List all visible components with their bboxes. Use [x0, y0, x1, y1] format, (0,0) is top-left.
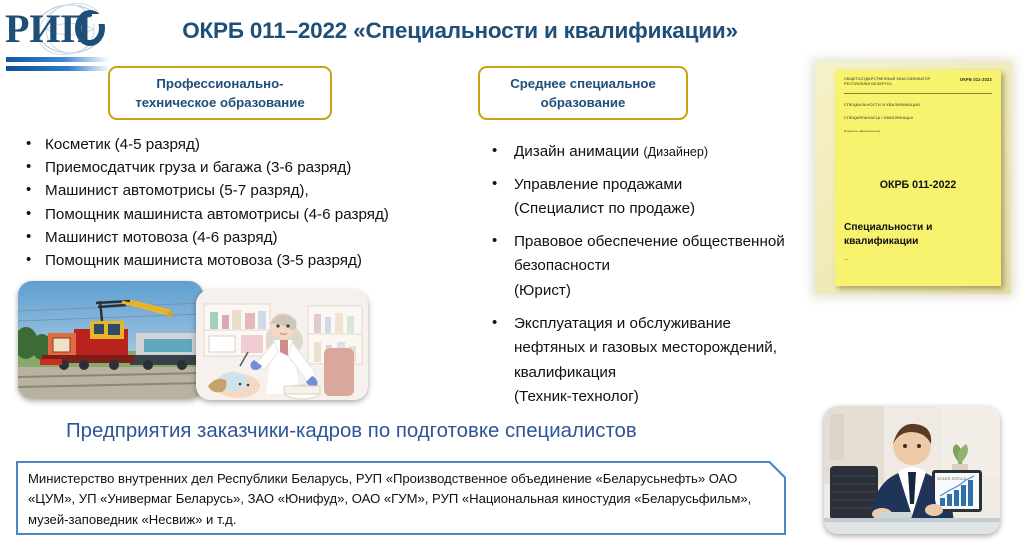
list-item: Правовое обеспечение общественной безопа…: [484, 230, 794, 304]
logo-underlines: [6, 57, 110, 71]
pto-header-box: Профессионально-техническое образование: [108, 66, 332, 120]
slide-title: ОКРБ 011–2022 «Специальности и квалифика…: [150, 18, 770, 44]
list-item-main: Дизайн анимации: [514, 143, 639, 160]
list-item: Эксплуатация и обслуживание нефтяных и г…: [484, 312, 794, 410]
list-item-main: Управление продажами: [514, 176, 682, 193]
businessman-with-tablet-photo: SALES GOALS: [824, 406, 1000, 534]
cover-title-line2: квалификации: [844, 236, 918, 247]
list-item-qualification: (Дизайнер): [643, 145, 708, 159]
list-item-qualification: (Специалист по продаже): [514, 200, 695, 217]
cover-code-top: ОКРБ 011-2022: [960, 77, 992, 82]
list-item: Дизайн анимации (Дизайнер): [484, 140, 794, 165]
list-item: Помощник машиниста автомотрисы (4-6 разр…: [18, 203, 478, 226]
cover-subject-be: СПЕЦЫЯЛЬНАСЦІ І КВАЛІФІКАЦЫІ: [844, 116, 992, 120]
ripo-logo: РИП: [4, 2, 116, 74]
list-item-qualification: (Юрист): [514, 282, 571, 299]
list-item: Помощник машиниста мотовоза (3-5 разряд): [18, 249, 478, 272]
cover-divider: [844, 93, 992, 94]
slide-canvas: РИП: [0, 0, 1024, 546]
okrb-standard-cover-image: ОБЩЕГОСУДАРСТВЕННЫЙ КЛАССИФИКАТОР РЕСПУБ…: [815, 62, 1011, 294]
list-item: Приемосдатчик груза и багажа (3-6 разряд…: [18, 156, 478, 179]
cover-code-center: ОКРБ 011-2022: [844, 179, 992, 191]
cover-edition: Издание официальное: [844, 129, 992, 133]
list-item: Косметик (4-5 разряд): [18, 133, 478, 156]
cosmetologist-illustration: [196, 290, 368, 400]
okrb-cover-page: ОБЩЕГОСУДАРСТВЕННЫЙ КЛАССИФИКАТОР РЕСПУБ…: [835, 70, 1001, 286]
pto-specialty-list: Косметик (4-5 разряд) Приемосдатчик груз…: [18, 133, 478, 272]
section-heading: Предприятия заказчики-кадров по подготов…: [66, 420, 746, 443]
railway-motovoz-photo: [18, 281, 203, 399]
cover-footer-dash: —: [844, 256, 992, 261]
sse-header-box: Среднее специальное образование: [478, 66, 688, 120]
cover-title-line1: Специальности и: [844, 222, 932, 233]
list-item-main: Эксплуатация и обслуживание нефтяных и г…: [514, 315, 777, 381]
list-item-qualification: (Техник-технолог): [514, 388, 639, 405]
tablet-chart-label: SALES GOALS: [937, 476, 966, 481]
list-item-main: Правовое обеспечение общественной безопа…: [514, 233, 785, 275]
cover-title: Специальности и квалификации: [844, 221, 992, 251]
list-item: Машинист мотовоза (4-6 разряд): [18, 226, 478, 249]
cover-subject-ru: СПЕЦИАЛЬНОСТИ И КВАЛИФИКАЦИИ: [844, 103, 992, 107]
list-item: Машинист автомотрисы (5-7 разряд),: [18, 179, 478, 202]
cover-org-line: ОБЩЕГОСУДАРСТВЕННЫЙ КЛАССИФИКАТОР РЕСПУБ…: [844, 77, 936, 87]
customers-box: Министерство внутренних дел Республики Б…: [16, 461, 786, 535]
list-item: Управление продажами (Специалист по прод…: [484, 173, 794, 222]
sse-specialty-list: Дизайн анимации (Дизайнер) Управление пр…: [484, 140, 794, 410]
customers-text: Министерство внутренних дел Республики Б…: [28, 469, 760, 530]
